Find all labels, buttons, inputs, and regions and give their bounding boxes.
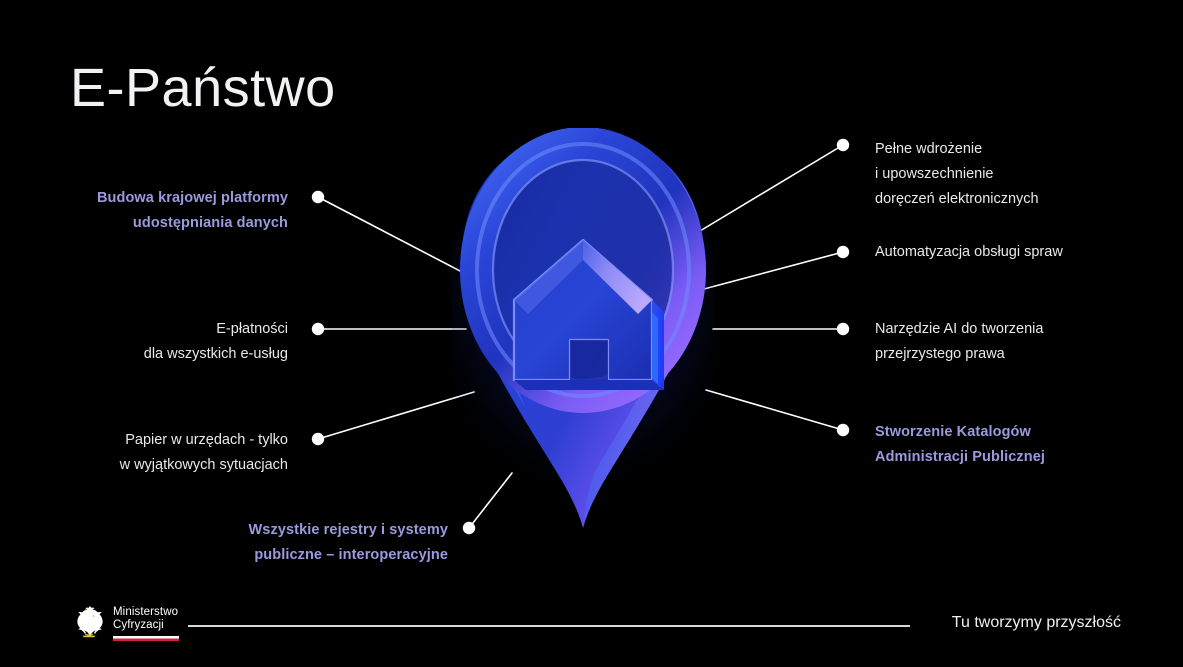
connector-line-automatyzacja-obslugi-spraw xyxy=(704,252,843,289)
connector-line-budowa-krajowej-platformy xyxy=(318,197,462,272)
callout-label-pelne-wdrozenie: Pełne wdrożenie i upowszechnienie doręcz… xyxy=(875,137,1135,212)
connector-dot-e-platnosci xyxy=(312,323,324,335)
ministry-logo: Ministerstwo Cyfryzacji xyxy=(72,601,179,645)
callout-label-stworzenie-katalogow: Stworzenie Katalogów Administracji Publi… xyxy=(875,420,1135,470)
callout-label-narzedzie-ai: Narzędzie AI do tworzenia przejrzystego … xyxy=(875,317,1135,367)
footer-tagline: Tu tworzymy przyszłość xyxy=(952,614,1121,632)
polish-eagle-icon xyxy=(72,603,106,643)
slide-canvas: E-Państwo xyxy=(0,0,1183,667)
connector-dot-stworzenie-katalogow xyxy=(837,424,849,436)
connector-dot-pelne-wdrozenie xyxy=(837,139,849,151)
ministry-logo-line2: Cyfryzacji xyxy=(113,619,179,633)
house-door xyxy=(570,340,608,380)
map-pin-graphic xyxy=(452,128,714,540)
connector-line-papier-w-urzedach xyxy=(318,392,474,439)
ministry-logo-text: Ministerstwo Cyfryzacji xyxy=(113,606,179,641)
connector-line-stworzenie-katalogow xyxy=(706,390,843,430)
callout-label-e-platnosci: E-płatności dla wszystkich e-usług xyxy=(40,317,288,367)
house-edge-glow xyxy=(652,312,658,384)
callout-label-papier-w-urzedach: Papier w urzędach - tylko w wyjątkowych … xyxy=(40,428,288,478)
callout-label-wszystkie-rejestry: Wszystkie rejestry i systemy publiczne –… xyxy=(190,518,448,568)
connector-dot-automatyzacja-obslugi-spraw xyxy=(837,246,849,258)
page-title: E-Państwo xyxy=(70,60,336,117)
connector-dot-budowa-krajowej-platformy xyxy=(312,191,324,203)
house-base-extrude xyxy=(514,380,664,390)
ministry-logo-line1: Ministerstwo xyxy=(113,606,179,620)
connector-dot-narzedzie-ai xyxy=(837,323,849,335)
connector-dot-papier-w-urzedach xyxy=(312,433,324,445)
footer-divider xyxy=(188,625,910,627)
map-pin-house-icon xyxy=(452,128,714,540)
callout-label-automatyzacja-obslugi-spraw: Automatyzacja obsługi spraw xyxy=(875,240,1145,265)
callout-label-budowa-krajowej-platformy: Budowa krajowej platformy udostępniania … xyxy=(40,186,288,236)
ministry-logo-flag-bar xyxy=(113,636,179,641)
